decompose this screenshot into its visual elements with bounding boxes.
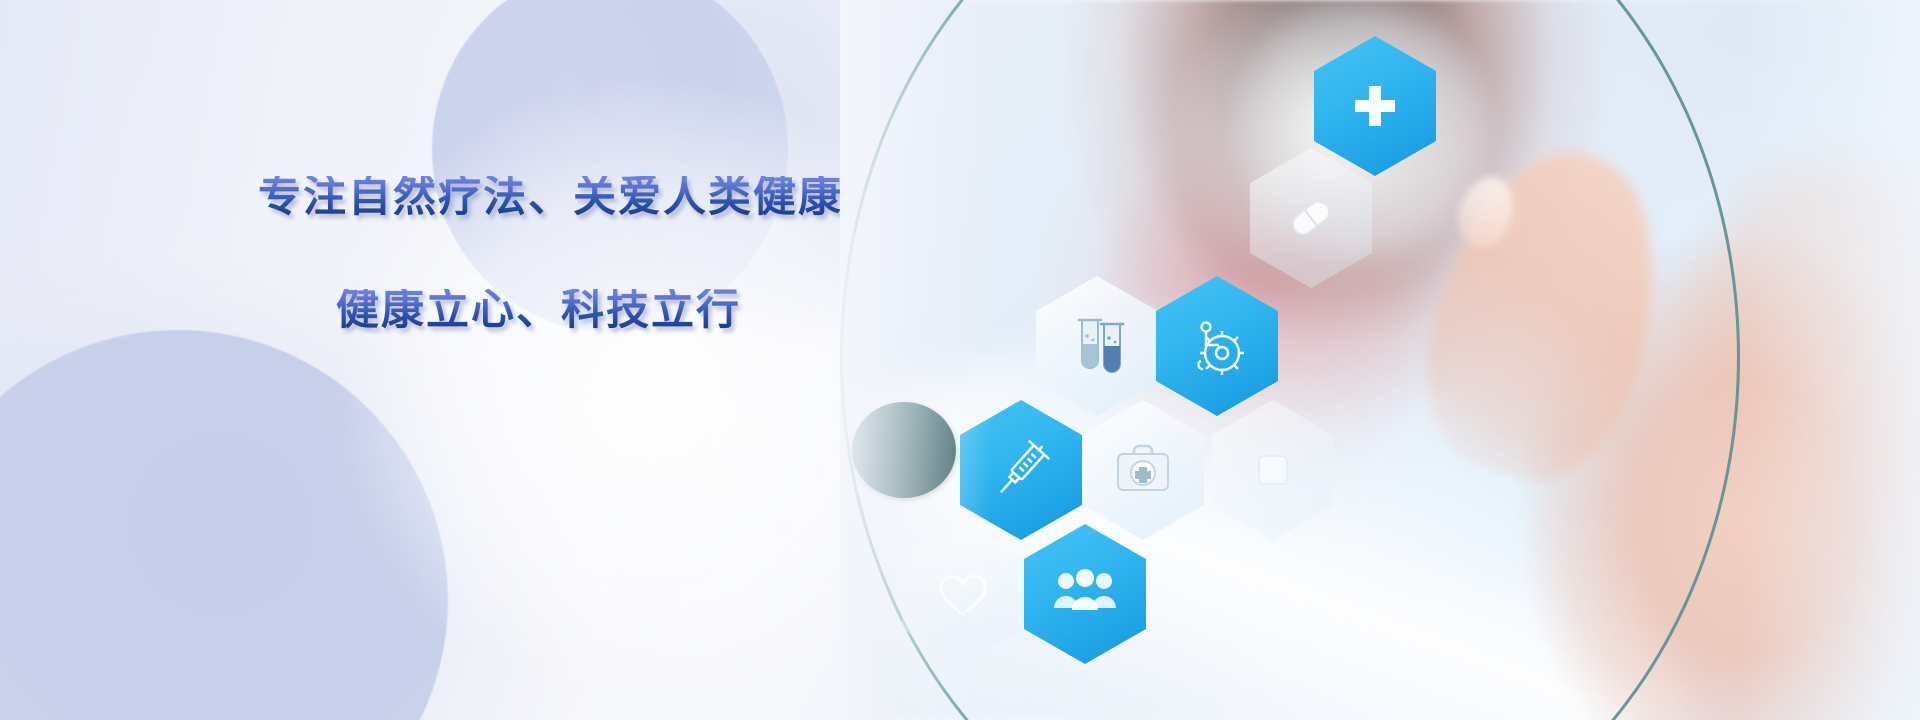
hex-tile-people[interactable] bbox=[1024, 524, 1146, 664]
hex-tile-wheelchair[interactable] bbox=[1156, 276, 1278, 416]
photo-left-fade bbox=[840, 0, 990, 720]
syringe-icon bbox=[988, 437, 1054, 503]
hex-tile-dna[interactable] bbox=[1212, 400, 1334, 540]
people-group-icon bbox=[1052, 568, 1118, 620]
hex-tile-test-tubes[interactable] bbox=[1036, 276, 1158, 416]
headline-secondary: 健康立心、科技立行 bbox=[336, 289, 898, 332]
test-tubes-icon bbox=[1068, 314, 1126, 378]
medical-cross-icon bbox=[1347, 78, 1403, 134]
hex-tile-medical-cross[interactable] bbox=[1314, 36, 1436, 176]
decorative-circle-bottom bbox=[0, 330, 448, 720]
headline-primary: 专注自然疗法、关爱人类健康 bbox=[258, 176, 898, 219]
headline-block: 专注自然疗法、关爱人类健康 健康立心、科技立行 bbox=[258, 176, 898, 332]
decorative-circle-bottom-glow bbox=[0, 300, 560, 720]
pill-capsule-icon bbox=[1281, 188, 1341, 248]
hex-tile-capsule[interactable] bbox=[1250, 148, 1372, 288]
right-edge-fade bbox=[1740, 0, 1920, 720]
hero-banner: 专注自然疗法、关爱人类健康 健康立心、科技立行 bbox=[0, 0, 1920, 720]
wheelchair-icon bbox=[1186, 315, 1248, 377]
left-background-wash bbox=[0, 0, 470, 720]
hex-tile-medical-bag[interactable] bbox=[1082, 400, 1204, 540]
hero-photo bbox=[840, 0, 1920, 720]
medical-bag-icon bbox=[1112, 442, 1174, 498]
dna-strand-icon bbox=[1247, 442, 1299, 498]
